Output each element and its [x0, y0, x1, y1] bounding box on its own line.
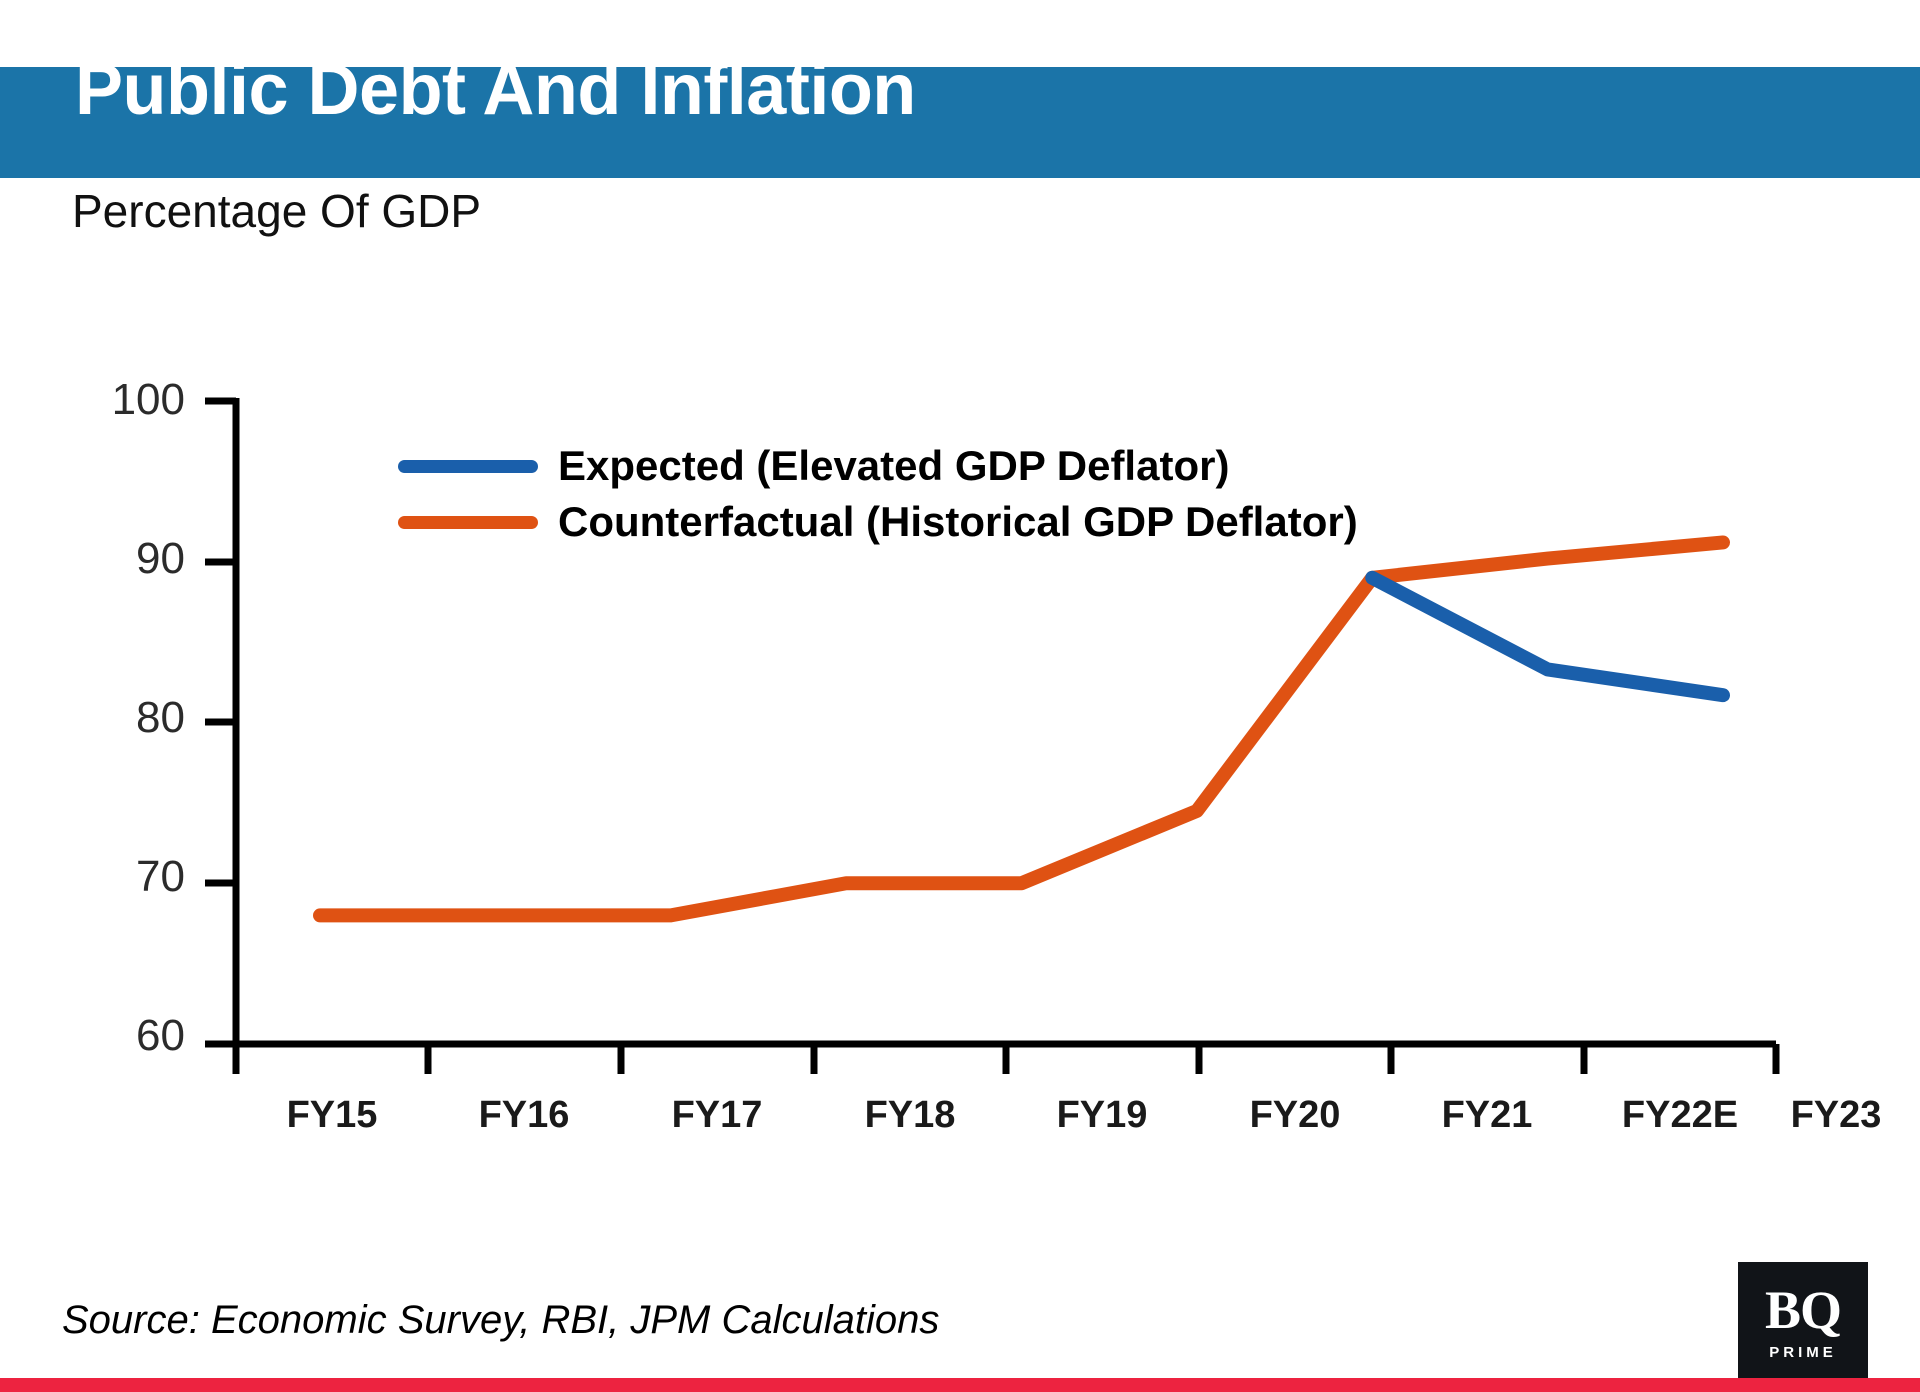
series-line-expected: [1372, 578, 1723, 695]
legend-swatch-counterfactual: [398, 516, 538, 529]
line-chart-plot: [0, 0, 1920, 1392]
x-tick-label-fy20: FY20: [1199, 1096, 1391, 1134]
legend-label-expected: Expected (Elevated GDP Deflator): [558, 445, 1229, 487]
legend-label-counterfactual: Counterfactual (Historical GDP Deflator): [558, 501, 1358, 543]
x-axis-ticks: [236, 1044, 1776, 1074]
x-tick-label-fy23: FY23: [1740, 1096, 1920, 1134]
x-tick-label-fy17: FY17: [621, 1096, 813, 1134]
x-tick-label-fy21: FY21: [1391, 1096, 1583, 1134]
chart-legend: Expected (Elevated GDP Deflator) Counter…: [398, 438, 1358, 550]
legend-swatch-expected: [398, 460, 538, 473]
logo-mark: BQ: [1765, 1283, 1841, 1337]
bottom-accent-bar: [0, 1378, 1920, 1392]
x-tick-label-fy15: FY15: [236, 1096, 428, 1134]
legend-item-expected[interactable]: Expected (Elevated GDP Deflator): [398, 438, 1358, 494]
series-line-counterfactual: [320, 542, 1723, 915]
logo-wordmark: PRIME: [1769, 1345, 1837, 1360]
slide-root: Public Debt And Inflation Percentage Of …: [0, 0, 1920, 1392]
y-axis-ticks: [205, 401, 236, 1044]
x-tick-label-fy16: FY16: [428, 1096, 620, 1134]
source-note: Source: Economic Survey, RBI, JPM Calcul…: [62, 1300, 939, 1340]
x-tick-label-fy18: FY18: [814, 1096, 1006, 1134]
legend-item-counterfactual[interactable]: Counterfactual (Historical GDP Deflator): [398, 494, 1358, 550]
bq-prime-logo: BQ PRIME: [1738, 1262, 1868, 1380]
x-tick-label-fy19: FY19: [1006, 1096, 1198, 1134]
